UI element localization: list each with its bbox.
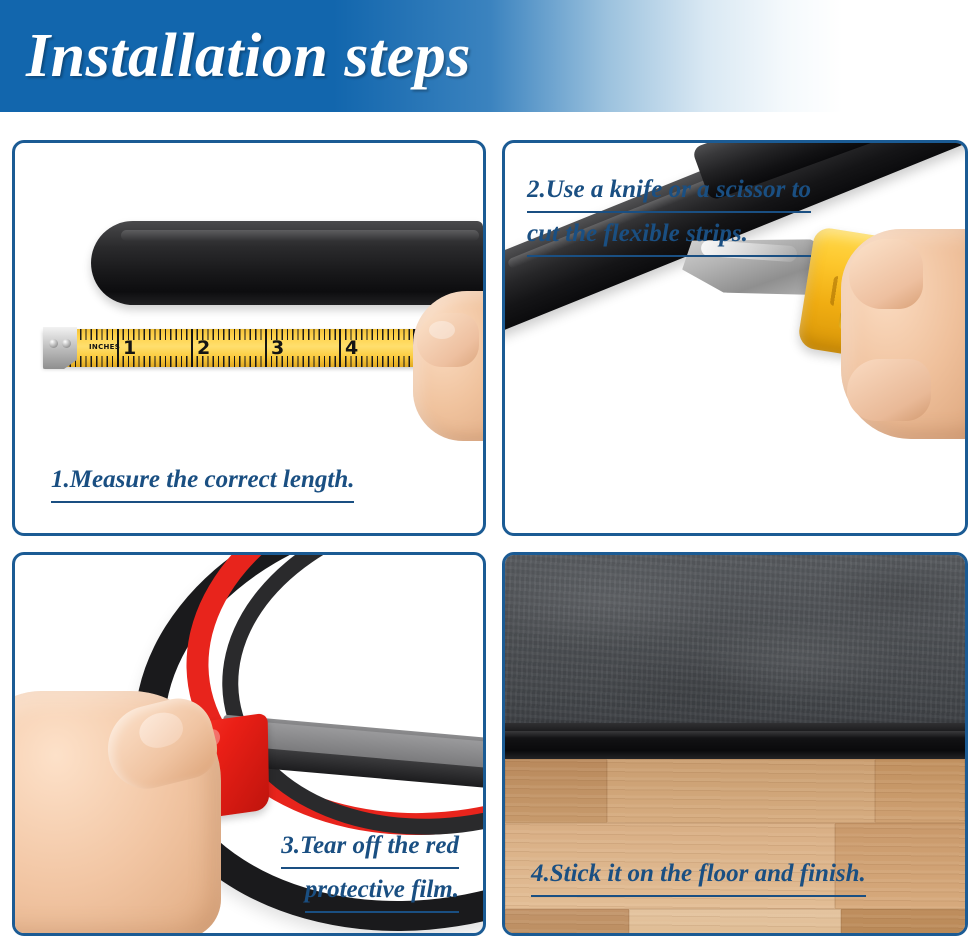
floor-plank: [629, 909, 841, 933]
tape-number-3: 3: [271, 338, 284, 359]
step-panel-4: 4.Stick it on the floor and finish.: [502, 552, 968, 936]
floor-plank: [875, 759, 965, 823]
page-title: Installation steps: [26, 18, 471, 94]
black-molding-strip: [91, 221, 483, 305]
wood-floor: [505, 759, 965, 933]
caption-line: 4.Stick it on the floor and finish.: [531, 853, 866, 897]
caption-line: cut the flexible strips.: [527, 213, 811, 257]
steps-grid: INCHES 1 2 3 4 5 1.Measure the correct l…: [12, 140, 968, 936]
header-banner: Installation steps: [0, 0, 980, 112]
step-2-caption: 2.Use a knife or a scissor to cut the fl…: [527, 169, 811, 257]
floor-plank: [505, 909, 629, 933]
step-panel-2: 2.Use a knife or a scissor to cut the fl…: [502, 140, 968, 536]
step-panel-1: INCHES 1 2 3 4 5 1.Measure the correct l…: [12, 140, 486, 536]
tape-ticks-top: [43, 329, 475, 340]
tape-number-4: 4: [345, 338, 358, 359]
tape-unit-label: INCHES: [89, 343, 120, 352]
step-3-caption: 3.Tear off the red protective film.: [281, 825, 459, 913]
step-panel-3: 3.Tear off the red protective film.: [12, 552, 486, 936]
tape-number-2: 2: [197, 338, 210, 359]
caption-line: 3.Tear off the red: [281, 825, 459, 869]
gray-wall: [505, 555, 965, 723]
tape-number-1: 1: [123, 338, 136, 359]
floor-plank: [505, 759, 607, 823]
tape-ticks-bottom: [43, 356, 475, 367]
hand: [841, 229, 965, 439]
tape-measure-hook: [43, 327, 77, 369]
hand: [413, 291, 483, 441]
caption-line: 2.Use a knife or a scissor to: [527, 169, 811, 213]
caption-line: 1.Measure the correct length.: [51, 459, 354, 503]
caption-line: protective film.: [305, 869, 459, 913]
floor-plank: [841, 909, 965, 933]
tape-measure: INCHES 1 2 3 4 5: [43, 329, 475, 367]
step-4-caption: 4.Stick it on the floor and finish.: [531, 853, 866, 897]
floor-plank: [607, 759, 875, 823]
wall-texture: [505, 555, 965, 723]
installed-black-molding: [505, 723, 965, 759]
step-1-caption: 1.Measure the correct length.: [51, 459, 354, 503]
